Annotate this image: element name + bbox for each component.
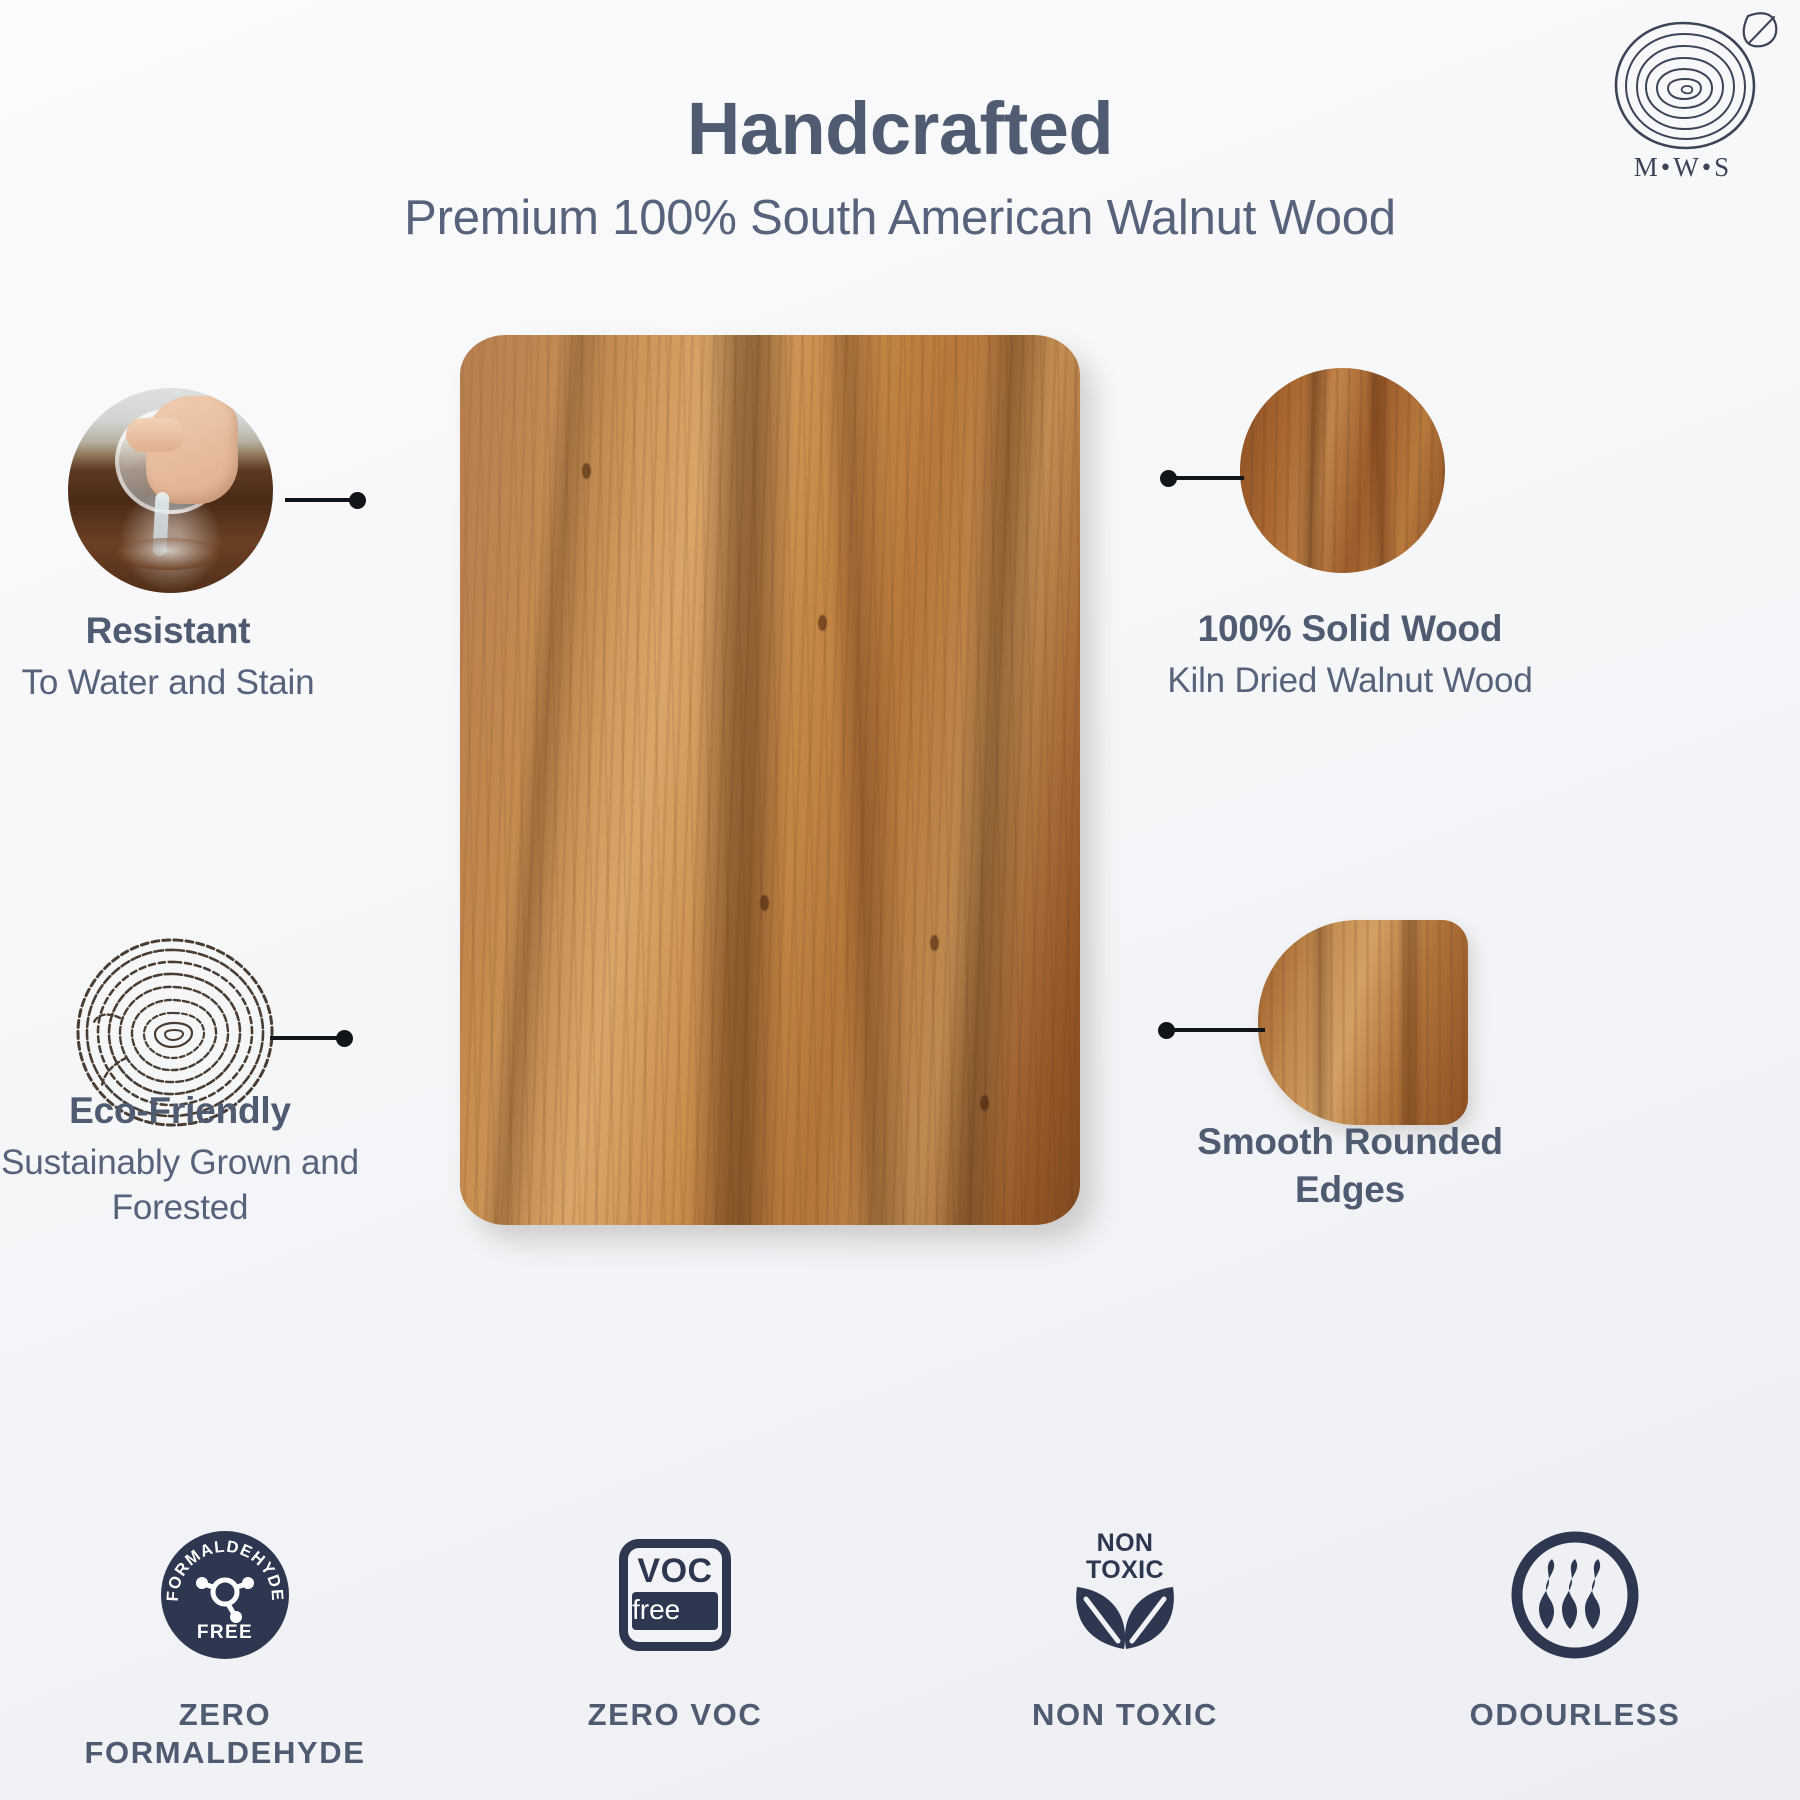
formaldehyde-free-seal-icon: FORMALDEHYDE FREE — [156, 1526, 294, 1664]
feature-desc: To Water and Stain — [8, 661, 328, 706]
voc-bottom-text: free — [632, 1592, 718, 1630]
leader-line-solid-wood — [1160, 468, 1250, 488]
voc-top-text: VOC — [637, 1554, 712, 1588]
wood-knot — [582, 463, 591, 479]
wood-knot — [760, 895, 769, 911]
non-toxic-leaves-icon: NON TOXIC — [1050, 1525, 1200, 1665]
page-subtitle: Premium 100% South American Walnut Wood — [0, 190, 1800, 246]
walnut-board — [460, 335, 1080, 1225]
wood-grain-swatch-icon — [1240, 368, 1445, 573]
feature-rounded-edges — [1258, 920, 1468, 1125]
water-pour-on-wood-photo-icon — [68, 388, 273, 593]
seal-bottom-text: FREE — [197, 1622, 253, 1643]
badge-art: NON TOXIC — [1050, 1520, 1200, 1670]
leader-line-edges — [1158, 1020, 1268, 1040]
feature-title: Resistant — [0, 610, 358, 652]
wood-knot — [980, 1095, 989, 1111]
feature-resistant — [68, 388, 273, 593]
rounded-edge-sample-icon — [1258, 920, 1468, 1125]
badge-label-line2: FORMALDEHYDE — [85, 1734, 366, 1772]
non-toxic-line1: NON — [1097, 1529, 1154, 1557]
leader-bar — [1172, 476, 1244, 480]
badge-label: ODOURLESS — [1470, 1696, 1681, 1734]
feature-eco-text: Eco-Friendly Sustainably Grown and Fores… — [0, 1090, 370, 1231]
leader-bar — [270, 1036, 340, 1040]
feature-rounded-edges-text: Smooth Rounded Edges — [1160, 1118, 1540, 1214]
leader-bar — [1170, 1028, 1265, 1032]
badge-zero-voc: VOC free ZERO VOC — [450, 1520, 900, 1772]
leader-dot — [336, 1030, 353, 1047]
badge-label: NON TOXIC — [1032, 1696, 1218, 1734]
water-puddle-shape — [116, 538, 220, 570]
feature-title: Smooth Rounded Edges — [1160, 1118, 1540, 1214]
leader-bar — [285, 498, 353, 502]
page-title: Handcrafted — [0, 92, 1800, 166]
badge-zero-formaldehyde: FORMALDEHYDE FREE — [0, 1520, 450, 1772]
feature-title: 100% Solid Wood — [1160, 608, 1540, 650]
non-toxic-line2: TOXIC — [1086, 1556, 1164, 1584]
feature-resistant-text: Resistant To Water and Stain — [0, 610, 358, 706]
badge-label-line1: ZERO — [85, 1696, 366, 1734]
leader-dot — [349, 492, 366, 509]
badge-odourless: ODOURLESS — [1350, 1520, 1800, 1772]
feature-title: Eco-Friendly — [0, 1090, 370, 1132]
certification-badges: FORMALDEHYDE FREE — [0, 1520, 1800, 1772]
header: Handcrafted Premium 100% South American … — [0, 92, 1800, 246]
feature-desc: Kiln Dried Walnut Wood — [1160, 659, 1540, 704]
badge-label: ZERO VOC — [588, 1696, 763, 1734]
board-sheen — [460, 335, 1080, 1225]
leader-line-resistant — [285, 490, 370, 510]
odourless-vapor-icon — [1505, 1525, 1645, 1665]
feature-solid-wood-text: 100% Solid Wood Kiln Dried Walnut Wood — [1160, 608, 1540, 704]
leader-line-eco — [270, 1028, 365, 1048]
badge-art — [1505, 1520, 1645, 1670]
wood-knot — [818, 615, 827, 631]
product-image — [460, 335, 1080, 1225]
badge-non-toxic: NON TOXIC NON TOXIC — [900, 1520, 1350, 1772]
finger-shape — [126, 418, 184, 452]
infographic-page: M•W•S Handcrafted Premium 100% South Ame… — [0, 0, 1800, 1800]
badge-label: ZERO FORMALDEHYDE — [85, 1696, 366, 1772]
feature-desc: Sustainably Grown and Forested — [0, 1141, 370, 1231]
badge-art: VOC free — [619, 1520, 731, 1670]
wood-knot — [930, 935, 939, 951]
badge-art: FORMALDEHYDE FREE — [156, 1520, 294, 1670]
feature-solid-wood — [1240, 368, 1445, 573]
voc-free-icon: VOC free — [619, 1539, 731, 1651]
